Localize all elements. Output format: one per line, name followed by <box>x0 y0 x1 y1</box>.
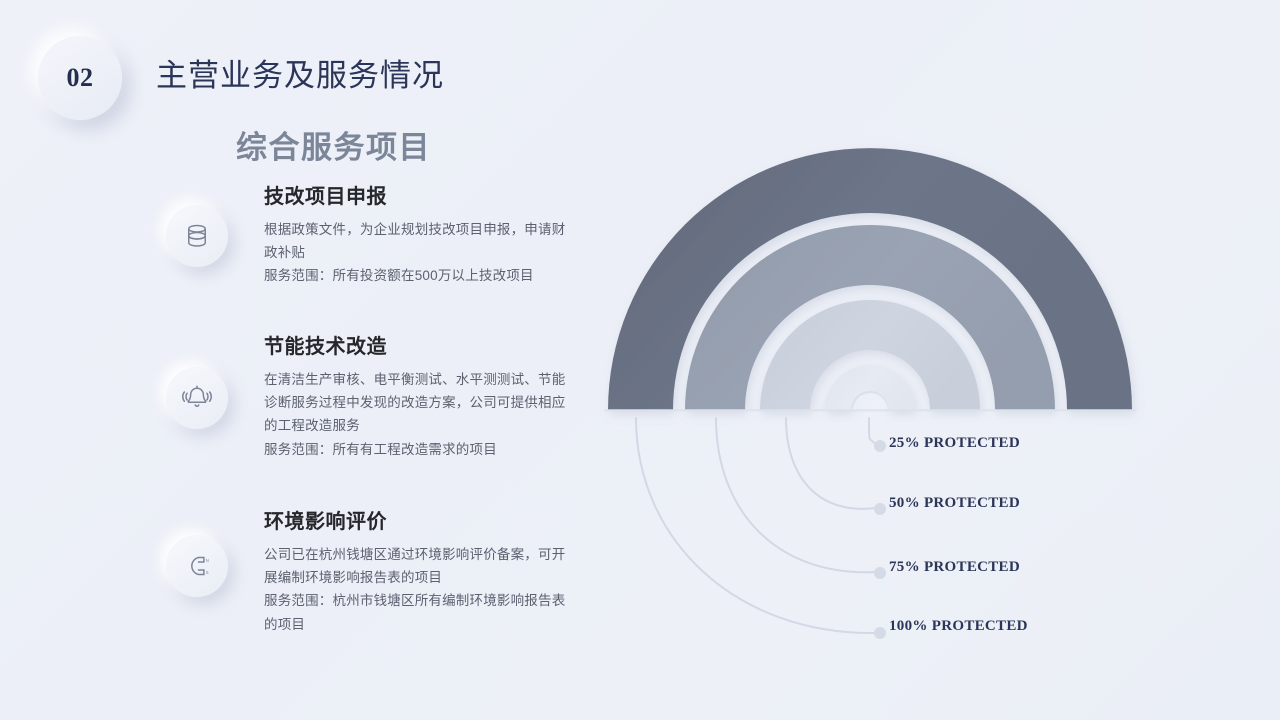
connector-dot-75 <box>874 567 886 579</box>
section-number: 02 <box>67 63 94 93</box>
connector-line-50 <box>786 418 876 509</box>
connector-line-75 <box>716 418 876 572</box>
section-number-badge: 02 <box>38 36 122 120</box>
arc-chart-svg <box>586 130 1280 670</box>
feature-scope: 服务范围：所有投资额在500万以上技改项目 <box>264 264 574 287</box>
page-header: 02 主营业务及服务情况 综合服务项目 <box>0 0 1280 130</box>
legend-item-50[interactable]: 50% PROTECTED <box>889 495 1020 512</box>
svg-text:S: S <box>206 570 209 575</box>
connector-dot-100 <box>874 627 886 639</box>
legend-item-25[interactable]: 25% PROTECTED <box>889 435 1020 452</box>
magnet-icon: N S <box>166 535 228 597</box>
feature-description: 公司已在杭州钱塘区通过环境影响评价备案，可开展编制环境影响报告表的项目 <box>264 543 569 589</box>
feature-description: 根据政策文件，为企业规划技改项目申报，申请财政补贴 <box>264 218 569 264</box>
legend-item-75[interactable]: 75% PROTECTED <box>889 559 1020 576</box>
svg-text:N: N <box>206 558 209 563</box>
feature-body: 技改项目申报 根据政策文件，为企业规划技改项目申报，申请财政补贴 服务范围：所有… <box>264 185 600 288</box>
page-title: 主营业务及服务情况 <box>156 50 444 95</box>
connector-lines <box>636 418 876 633</box>
concentric-arc-chart <box>586 130 1280 670</box>
page-subtitle: 综合服务项目 <box>236 122 431 167</box>
feature-title: 技改项目申报 <box>264 185 580 209</box>
connector-dot-25 <box>874 440 886 452</box>
legend-label: 100% PROTECTED <box>889 618 1028 635</box>
legend-label: 25% PROTECTED <box>889 435 1020 452</box>
arc-core <box>853 393 887 410</box>
connector-dots <box>874 440 886 639</box>
feature-scope: 服务范围：杭州市钱塘区所有编制环境影响报告表的项目 <box>264 589 574 635</box>
legend-item-100[interactable]: 100% PROTECTED <box>889 618 1028 635</box>
feature-item-technical-upgrade: 技改项目申报 根据政策文件，为企业规划技改项目申报，申请财政补贴 服务范围：所有… <box>0 185 600 335</box>
bell-icon <box>166 367 228 429</box>
feature-item-environmental-assessment: N S 环境影响评价 公司已在杭州钱塘区通过环境影响评价备案，可开展编制环境影响… <box>0 510 600 670</box>
feature-scope: 服务范围：所有有工程改造需求的项目 <box>264 438 574 461</box>
arc-baseline <box>604 409 1136 412</box>
connector-line-100 <box>636 418 876 633</box>
feature-title: 节能技术改造 <box>264 335 580 359</box>
feature-item-energy-saving: 节能技术改造 在清洁生产审核、电平衡测试、水平测测试、节能诊断服务过程中发现的改… <box>0 335 600 510</box>
feature-body: 环境影响评价 公司已在杭州钱塘区通过环境影响评价备案，可开展编制环境影响报告表的… <box>264 510 600 636</box>
connector-line-25 <box>869 418 876 445</box>
feature-description: 在清洁生产审核、电平衡测试、水平测测试、节能诊断服务过程中发现的改造方案，公司可… <box>264 368 569 438</box>
connector-dot-50 <box>874 503 886 515</box>
feature-body: 节能技术改造 在清洁生产审核、电平衡测试、水平测测试、节能诊断服务过程中发现的改… <box>264 335 600 461</box>
legend-label: 50% PROTECTED <box>889 495 1020 512</box>
legend-label: 75% PROTECTED <box>889 559 1020 576</box>
database-icon <box>166 205 228 267</box>
feature-title: 环境影响评价 <box>264 510 580 534</box>
feature-list: 技改项目申报 根据政策文件，为企业规划技改项目申报，申请财政补贴 服务范围：所有… <box>0 185 600 670</box>
